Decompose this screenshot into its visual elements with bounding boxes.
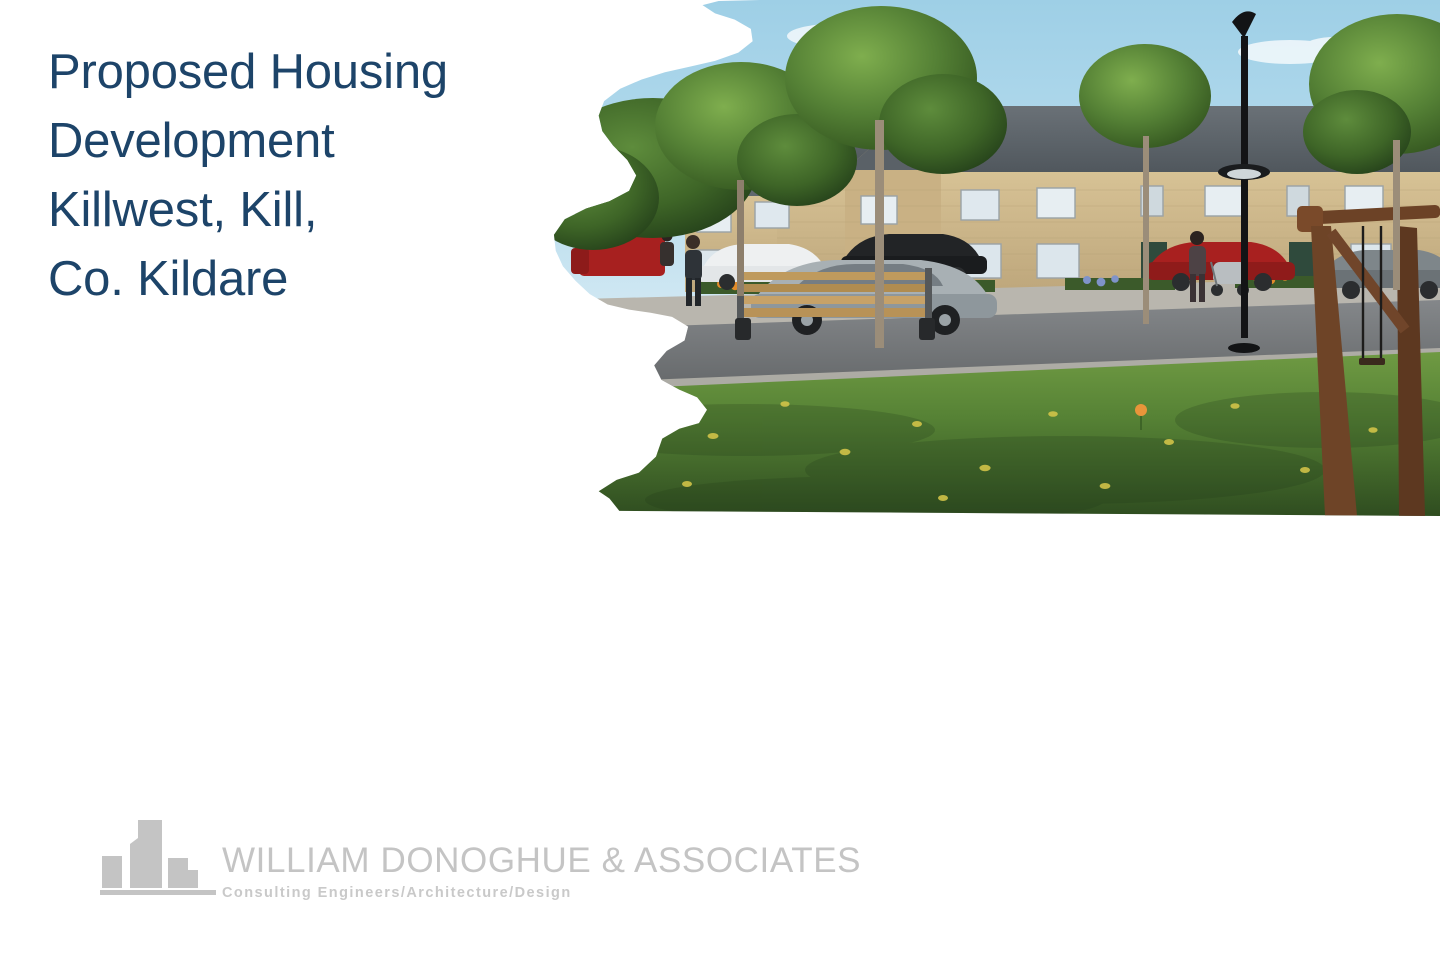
title-line-1: Proposed Housing xyxy=(48,38,548,107)
presentation-slide: Proposed Housing Development Killwest, K… xyxy=(0,0,1440,960)
company-name: WILLIAM DONOGHUE & ASSOCIATES xyxy=(222,842,902,880)
building-silhouette-logo-icon xyxy=(100,818,220,900)
title-line-2: Development xyxy=(48,107,548,176)
title-line-3: Killwest, Kill, xyxy=(48,176,548,245)
hero-render-image xyxy=(545,0,1440,516)
company-tagline: Consulting Engineers/Architecture/Design xyxy=(222,883,902,903)
render-illustration xyxy=(545,0,1440,516)
page-title: Proposed Housing Development Killwest, K… xyxy=(48,38,548,314)
company-logo: WILLIAM DONOGHUE & ASSOCIATES Consulting… xyxy=(100,818,800,918)
title-line-4: Co. Kildare xyxy=(48,245,548,314)
logo-text: WILLIAM DONOGHUE & ASSOCIATES Consulting… xyxy=(222,842,902,903)
